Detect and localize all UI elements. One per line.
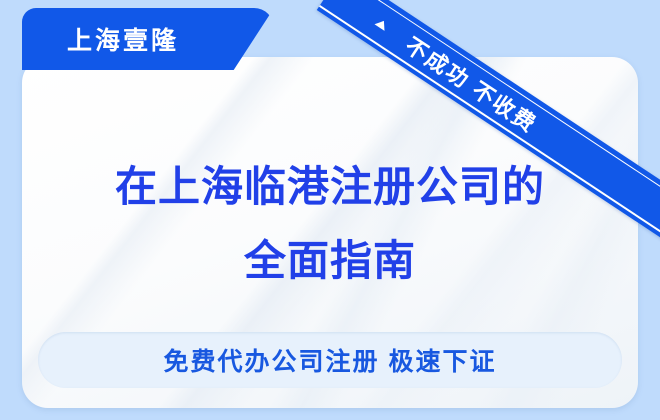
content-card: 在上海临港注册公司的 全面指南 免费代办公司注册 极速下证 (22, 57, 638, 408)
brand-tab[interactable]: 上海壹隆 (22, 8, 274, 70)
headline-line-2: 全面指南 (22, 224, 638, 298)
page-title: 在上海临港注册公司的 全面指南 (22, 150, 638, 298)
brand-tab-label: 上海壹隆 (67, 21, 179, 57)
triangle-up-icon (374, 18, 388, 31)
cta-banner-label: 免费代办公司注册 极速下证 (164, 342, 497, 378)
promo-poster: 在上海临港注册公司的 全面指南 免费代办公司注册 极速下证 上海壹隆 不成功 不… (0, 0, 660, 420)
cta-banner[interactable]: 免费代办公司注册 极速下证 (38, 332, 622, 388)
headline-line-1: 在上海临港注册公司的 (22, 150, 638, 224)
